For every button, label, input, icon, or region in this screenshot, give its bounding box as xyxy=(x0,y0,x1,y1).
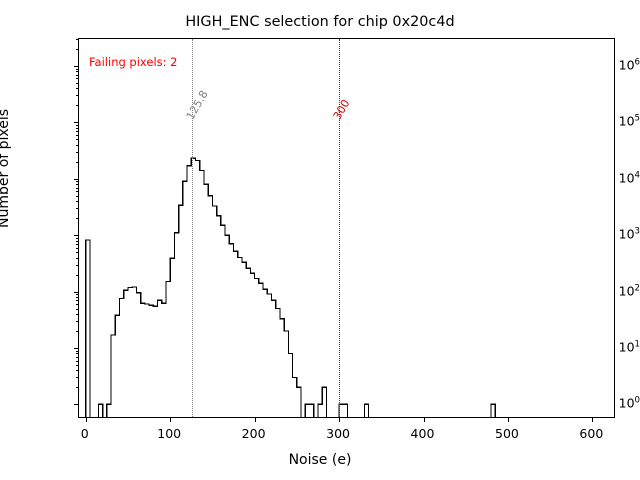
y-tick-minor xyxy=(76,321,79,322)
y-tick-minor xyxy=(76,145,79,146)
plot-area: Failing pixels: 2 125.8 300 xyxy=(78,38,615,418)
y-tick-minor xyxy=(76,241,79,242)
y-tick-minor xyxy=(76,275,79,276)
failing-pixels-note: Failing pixels: 2 xyxy=(89,55,178,69)
y-tick-minor xyxy=(76,300,79,301)
y-tick-minor xyxy=(76,258,79,259)
y-tick-minor xyxy=(76,78,79,79)
y-tick-label: 100 xyxy=(571,396,640,411)
histogram-series xyxy=(79,39,614,417)
x-tick-label: 300 xyxy=(326,426,350,441)
y-tick-minor xyxy=(76,304,79,305)
y-tick-minor xyxy=(76,188,79,189)
y-tick-minor xyxy=(76,69,79,70)
y-tick-label: 103 xyxy=(571,227,640,242)
y-tick-minor xyxy=(76,135,79,136)
y-tick-minor xyxy=(76,196,79,197)
y-tick-minor xyxy=(76,191,79,192)
y-tick-minor xyxy=(76,181,79,182)
y-tick-minor xyxy=(76,218,79,219)
y-tick-minor xyxy=(76,88,79,89)
y-tick-major xyxy=(74,348,79,349)
y-tick-minor xyxy=(76,331,79,332)
y-tick-minor xyxy=(76,297,79,298)
page-title: HIGH_ENC selection for chip 0x20c4d xyxy=(0,14,640,30)
y-tick-minor xyxy=(76,353,79,354)
x-axis-label: Noise (e) xyxy=(0,452,640,468)
x-tick-major xyxy=(86,417,87,422)
x-tick-label: 600 xyxy=(579,426,603,441)
y-axis-label: Number of pixels xyxy=(0,109,12,228)
y-tick-minor xyxy=(76,152,79,153)
y-tick-minor xyxy=(76,309,79,310)
y-tick-minor xyxy=(76,39,79,40)
y-tick-major xyxy=(74,292,79,293)
x-tick-label: 0 xyxy=(81,426,89,441)
y-tick-minor xyxy=(76,361,79,362)
x-tick-label: 500 xyxy=(495,426,519,441)
y-tick-minor xyxy=(76,75,79,76)
y-tick-minor xyxy=(76,387,79,388)
y-tick-minor xyxy=(76,105,79,106)
y-tick-major xyxy=(74,179,79,180)
x-tick-label: 400 xyxy=(411,426,435,441)
y-tick-minor xyxy=(76,139,79,140)
y-tick-minor xyxy=(76,244,79,245)
plot-inner: Failing pixels: 2 xyxy=(79,39,614,417)
y-tick-minor xyxy=(76,71,79,72)
y-tick-label: 104 xyxy=(571,170,640,185)
y-tick-minor xyxy=(76,201,79,202)
y-tick-minor xyxy=(76,248,79,249)
y-tick-label: 102 xyxy=(571,283,640,298)
y-tick-minor xyxy=(76,131,79,132)
x-tick-major xyxy=(508,417,509,422)
y-tick-minor xyxy=(76,351,79,352)
figure-canvas: HIGH_ENC selection for chip 0x20c4d Numb… xyxy=(0,0,640,480)
x-tick-major xyxy=(339,417,340,422)
y-tick-minor xyxy=(76,128,79,129)
y-tick-minor xyxy=(76,370,79,371)
y-tick-minor xyxy=(76,294,79,295)
vline-mean-marker xyxy=(192,39,193,417)
vline-threshold-marker xyxy=(339,39,340,417)
y-tick-minor xyxy=(76,314,79,315)
y-tick-minor xyxy=(76,184,79,185)
y-tick-major xyxy=(74,404,79,405)
x-tick-major xyxy=(424,417,425,422)
x-tick-label: 200 xyxy=(242,426,266,441)
y-tick-minor xyxy=(76,365,79,366)
y-tick-major xyxy=(74,235,79,236)
y-tick-minor xyxy=(76,208,79,209)
y-tick-minor xyxy=(76,49,79,50)
y-tick-minor xyxy=(76,83,79,84)
y-tick-label: 101 xyxy=(571,339,640,354)
x-tick-major xyxy=(170,417,171,422)
y-tick-minor xyxy=(76,95,79,96)
y-tick-minor xyxy=(76,125,79,126)
y-tick-minor xyxy=(76,238,79,239)
y-tick-label: 106 xyxy=(571,57,640,72)
y-tick-minor xyxy=(76,252,79,253)
y-tick-major xyxy=(74,122,79,123)
x-tick-major xyxy=(255,417,256,422)
y-tick-minor xyxy=(76,377,79,378)
y-tick-minor xyxy=(76,162,79,163)
y-tick-major xyxy=(74,66,79,67)
y-tick-label: 105 xyxy=(571,114,640,129)
y-tick-minor xyxy=(76,265,79,266)
y-tick-minor xyxy=(76,357,79,358)
x-tick-label: 100 xyxy=(157,426,181,441)
x-tick-major xyxy=(592,417,593,422)
